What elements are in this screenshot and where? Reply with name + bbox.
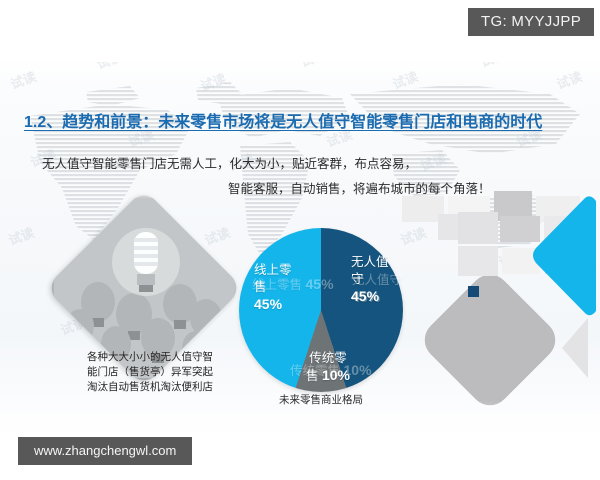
pie-chart-caption: 未来零售商业格局 [251,392,391,407]
left-image-caption: 各种大大小小的无人值守智 能门店（售货亭）异军突起 淘汰自动售货机淘汰便利店 [60,350,240,395]
pie-label-online: 线上零 售 45% [254,262,326,314]
watermark-text: 试读 [478,44,509,71]
tg-badge: TG: MYYJJPP [468,8,594,36]
watermark-text: 试读 [390,66,421,93]
paragraph-line-2: 智能客服，自动销售，将遍布城市的每个角落！ [0,177,600,202]
watermark-text: 试读 [94,46,125,73]
pie-label-line2: 售 [306,369,319,383]
body-paragraph: 无人值守智能零售门店无需人工，化大为小，贴近客群，布点容易， 智能客服，自动销售… [0,152,600,202]
pie-value-unmanned: 45% [351,288,379,304]
pie-value-online: 45% [254,296,282,312]
pie-label-line1: 线上零 [254,262,326,279]
cyan-triangle-shape [528,193,600,318]
watermark-text: 试读 [554,66,585,93]
title-text: 、趋势和前景：未来零售市场将是无人值守智能零售门店和电商的时代 [46,114,542,131]
pie-label-line1: 无人值 [351,254,423,271]
watermark-text: 试读 [6,222,37,249]
lightbulbs-image [74,218,214,358]
caption-line-1: 各种大大小小的无人值守智 [60,350,240,365]
watermark-text: 试读 [8,66,39,93]
pie-value-traditional: 10% [322,367,350,383]
caption-line-2: 能门店（售货亭）异军突起 [60,365,240,380]
pie-label-unmanned: 无人值 守 45% [351,254,423,306]
footer-url[interactable]: www.zhangchengwl.com [18,437,192,465]
pie-label-line2: 售 [254,279,326,296]
slide-canvas: 试读 试读 试读 试读 试读 试读 试读 试读 试读 试读 试读 试读 试读 试… [0,0,600,480]
page-title: 1.2、趋势和前景：未来零售市场将是无人值守智能零售门店和电商的时代 [24,108,590,132]
pie-label-traditional: 传统零 售 10% [282,350,374,385]
watermark-text: 试读 [198,68,229,95]
title-number: 1.2 [24,114,46,131]
caption-line-3: 淘汰自动售货机淘汰便利店 [60,380,240,395]
pie-label-line1: 传统零 [282,350,374,367]
decor-navy-square [468,286,479,297]
watermark-text: 试读 [298,44,329,71]
pie-label-line2: 守 [351,271,423,288]
decor-square [458,212,498,244]
gray-chevron-shape [562,318,588,378]
decor-square [458,246,498,276]
paragraph-line-1: 无人值守智能零售门店无需人工，化大为小，贴近客群，布点容易， [0,152,600,177]
